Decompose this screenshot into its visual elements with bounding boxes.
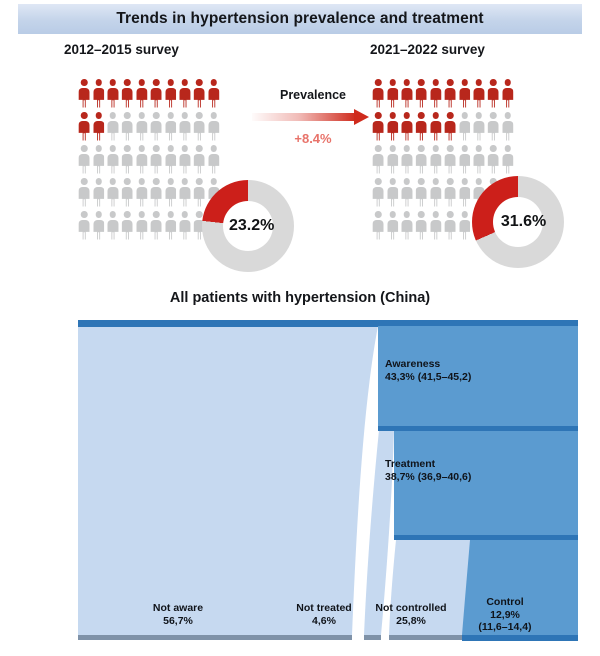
person-icon (457, 144, 471, 177)
person-icon (207, 78, 221, 111)
person-icon (457, 111, 471, 144)
person-icon (163, 78, 177, 111)
person-icon (457, 78, 471, 111)
person-icon (486, 111, 500, 144)
person-icon (77, 177, 91, 210)
sankey-node-not-aware-value: 56,7% (118, 615, 238, 628)
person-icon (400, 111, 414, 144)
sankey-node-not-controlled-label: Not controlled (363, 602, 459, 615)
sankey-node-not-aware-label: Not aware (118, 602, 238, 615)
person-icon (207, 144, 221, 177)
person-icon (472, 111, 486, 144)
person-icon (371, 144, 385, 177)
pictogram-grid-2012 (77, 78, 221, 243)
person-icon (385, 144, 399, 177)
prevalence-arrow-icon (252, 108, 374, 126)
person-icon (178, 111, 192, 144)
sankey-node-treatment: Treatment 38,7% (36,9–40,6) (385, 458, 471, 483)
person-icon (77, 210, 91, 243)
person-icon (429, 111, 443, 144)
person-icon (414, 177, 428, 210)
prevalence-change-block: Prevalence +8.4% (252, 88, 374, 146)
sankey-node-awareness-label: Awareness (385, 358, 471, 371)
person-icon (178, 78, 192, 111)
person-icon (385, 177, 399, 210)
donut-chart-2021: 31.6% (472, 176, 564, 268)
person-icon (149, 144, 163, 177)
sankey-node-control-ci: (11,6–14,4) (462, 621, 548, 634)
sankey-diagram: All patients with hypertension (China) (0, 290, 600, 656)
person-icon (106, 144, 120, 177)
person-icon (192, 78, 206, 111)
person-icon (429, 210, 443, 243)
person-icon (443, 177, 457, 210)
person-icon (501, 78, 515, 111)
person-icon (414, 78, 428, 111)
person-icon (91, 177, 105, 210)
person-icon (207, 111, 221, 144)
person-icon (385, 210, 399, 243)
person-icon (429, 144, 443, 177)
person-icon (120, 144, 134, 177)
person-icon (371, 210, 385, 243)
person-icon (429, 78, 443, 111)
sankey-node-control-value: 12,9% (462, 609, 548, 622)
sankey-node-not-treated-value: 4,6% (285, 615, 363, 628)
person-icon (135, 78, 149, 111)
person-icon (192, 144, 206, 177)
person-icon (429, 177, 443, 210)
sankey-node-control-label: Control (462, 596, 548, 609)
person-icon (120, 210, 134, 243)
person-icon (486, 144, 500, 177)
person-icon (120, 78, 134, 111)
person-icon (106, 210, 120, 243)
person-icon (400, 177, 414, 210)
person-icon (414, 111, 428, 144)
sankey-node-not-controlled-value: 25,8% (363, 615, 459, 628)
prevalence-delta: +8.4% (252, 131, 374, 146)
survey-label-right: 2021–2022 survey (370, 42, 485, 57)
person-icon (501, 144, 515, 177)
person-icon (192, 111, 206, 144)
donut-chart-2012: 23.2% (202, 180, 294, 272)
donut-value-2012: 23.2% (229, 217, 274, 235)
person-icon (106, 177, 120, 210)
sankey-node-awareness-value: 43,3% (41,5–45,2) (385, 371, 471, 384)
person-icon (192, 177, 206, 210)
person-icon (149, 78, 163, 111)
person-icon (106, 78, 120, 111)
person-icon (472, 144, 486, 177)
sankey-node-not-treated: Not treated 4,6% (285, 602, 363, 627)
sankey-node-control: Control 12,9% (11,6–14,4) (462, 596, 548, 634)
person-icon (135, 144, 149, 177)
person-icon (501, 111, 515, 144)
person-icon (77, 111, 91, 144)
infographic-root: Trends in hypertension prevalence and tr… (0, 0, 600, 656)
person-icon (91, 144, 105, 177)
person-icon (120, 177, 134, 210)
person-icon (77, 144, 91, 177)
person-icon (400, 78, 414, 111)
person-icon (178, 177, 192, 210)
person-icon (486, 78, 500, 111)
sankey-node-not-controlled: Not controlled 25,8% (363, 602, 459, 627)
person-icon (400, 210, 414, 243)
person-icon (457, 177, 471, 210)
person-icon (135, 210, 149, 243)
person-icon (163, 210, 177, 243)
sankey-node-not-treated-label: Not treated (285, 602, 363, 615)
person-icon (120, 111, 134, 144)
sankey-node-not-aware: Not aware 56,7% (118, 602, 238, 627)
page-title: Trends in hypertension prevalence and tr… (116, 10, 483, 28)
person-icon (414, 210, 428, 243)
survey-label-left: 2012–2015 survey (64, 42, 179, 57)
prevalence-label: Prevalence (252, 88, 374, 102)
person-icon (400, 144, 414, 177)
person-icon (149, 177, 163, 210)
person-icon (106, 111, 120, 144)
person-icon (178, 144, 192, 177)
person-icon (457, 210, 471, 243)
person-icon (385, 111, 399, 144)
person-icon (385, 78, 399, 111)
person-icon (91, 111, 105, 144)
person-icon (149, 210, 163, 243)
person-icon (443, 210, 457, 243)
person-icon (149, 111, 163, 144)
person-icon (472, 78, 486, 111)
person-icon (178, 210, 192, 243)
sankey-node-treatment-value: 38,7% (36,9–40,6) (385, 471, 471, 484)
person-icon (135, 177, 149, 210)
sankey-node-treatment-label: Treatment (385, 458, 471, 471)
person-icon (135, 111, 149, 144)
person-icon (371, 177, 385, 210)
person-icon (91, 210, 105, 243)
person-icon (414, 144, 428, 177)
donut-value-2021: 31.6% (501, 213, 546, 231)
person-icon (163, 111, 177, 144)
person-icon (443, 144, 457, 177)
person-icon (443, 111, 457, 144)
sankey-node-awareness: Awareness 43,3% (41,5–45,2) (385, 358, 471, 383)
person-icon (163, 177, 177, 210)
person-icon (91, 78, 105, 111)
person-icon (77, 78, 91, 111)
person-icon (443, 78, 457, 111)
page-title-banner: Trends in hypertension prevalence and tr… (18, 4, 582, 34)
person-icon (163, 144, 177, 177)
